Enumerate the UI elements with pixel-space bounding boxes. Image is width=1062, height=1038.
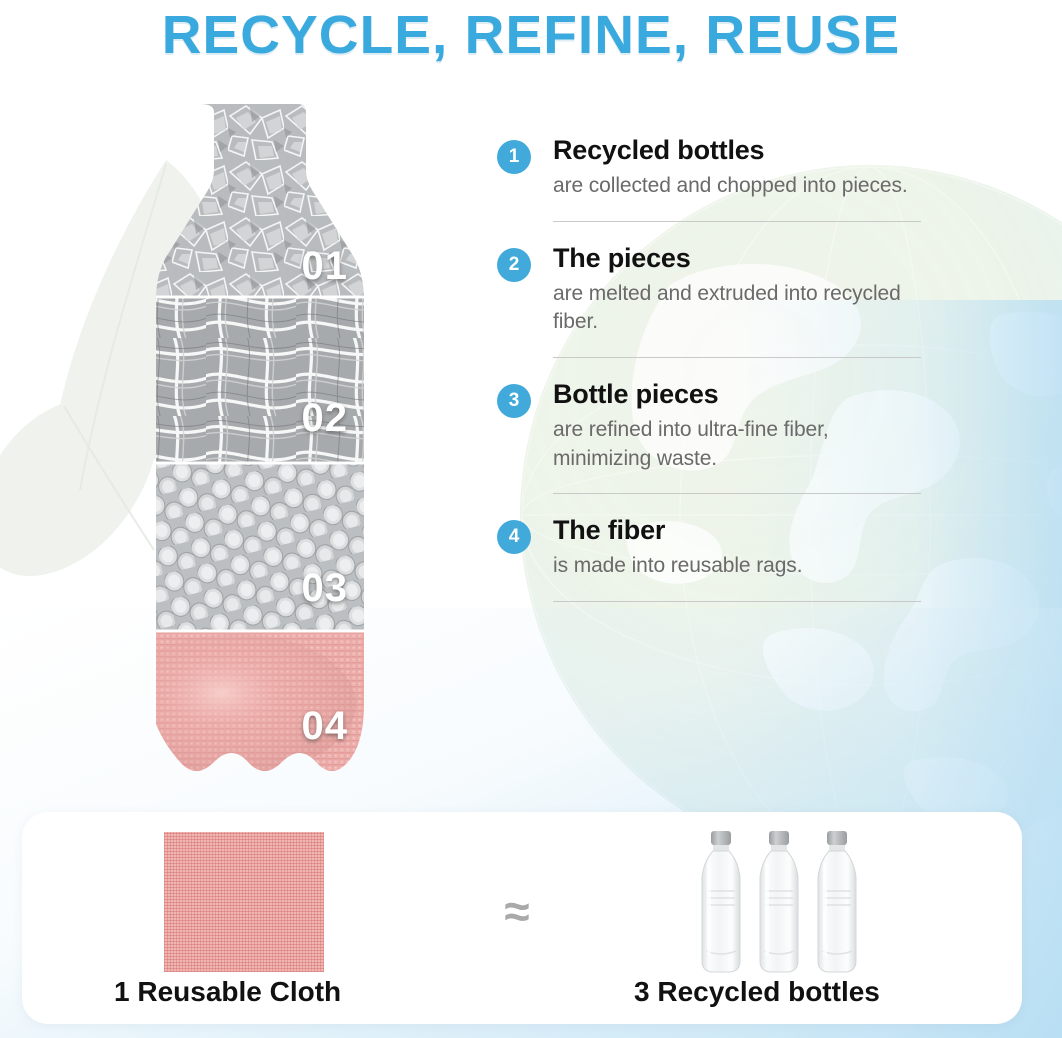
step-desc-4: is made into reusable rags. <box>553 552 802 581</box>
step-title-4: The fiber <box>553 516 802 545</box>
step-title-3: Bottle pieces <box>553 380 927 409</box>
plastic-bottle-icon-2 <box>752 829 806 977</box>
equivalence-card: ≈ <box>22 812 1022 1024</box>
step-badge-1: 1 <box>497 140 531 174</box>
step-badge-3: 3 <box>497 384 531 418</box>
bottle-diagram: 01 02 03 04 <box>116 104 382 794</box>
step-badge-2: 2 <box>497 248 531 282</box>
step-item-2: 2 The pieces are melted and extruded int… <box>497 244 927 358</box>
step-divider-2 <box>553 357 921 358</box>
step-item-1: 1 Recycled bottles are collected and cho… <box>497 136 927 222</box>
plastic-bottle-icon-3 <box>810 829 864 977</box>
step-desc-3: are refined into ultra-fine fiber, minim… <box>553 416 927 473</box>
pink-cloth-swatch-icon <box>164 832 324 972</box>
approximately-equal-icon: ≈ <box>477 888 557 934</box>
step-item-4: 4 The fiber is made into reusable rags. <box>497 516 927 602</box>
step-title-2: The pieces <box>553 244 927 273</box>
steps-list: 1 Recycled bottles are collected and cho… <box>497 136 927 602</box>
step-divider-1 <box>553 221 921 222</box>
page-title: RECYCLE, REFINE, REUSE <box>0 4 1062 66</box>
step-divider-3 <box>553 493 921 494</box>
equivalence-left-label: 1 Reusable Cloth <box>114 976 341 1008</box>
step-badge-4: 4 <box>497 520 531 554</box>
step-title-1: Recycled bottles <box>553 136 908 165</box>
step-item-3: 3 Bottle pieces are refined into ultra-f… <box>497 380 927 494</box>
three-plastic-bottles-icon <box>694 822 866 977</box>
infographic-page: RECYCLE, REFINE, REUSE <box>0 0 1062 1038</box>
plastic-bottle-icon-1 <box>694 829 748 977</box>
step-desc-2: are melted and extruded into recycled fi… <box>553 280 927 337</box>
step-desc-1: are collected and chopped into pieces. <box>553 172 908 201</box>
step-divider-4 <box>553 601 921 602</box>
equivalence-right-label: 3 Recycled bottles <box>634 976 880 1008</box>
